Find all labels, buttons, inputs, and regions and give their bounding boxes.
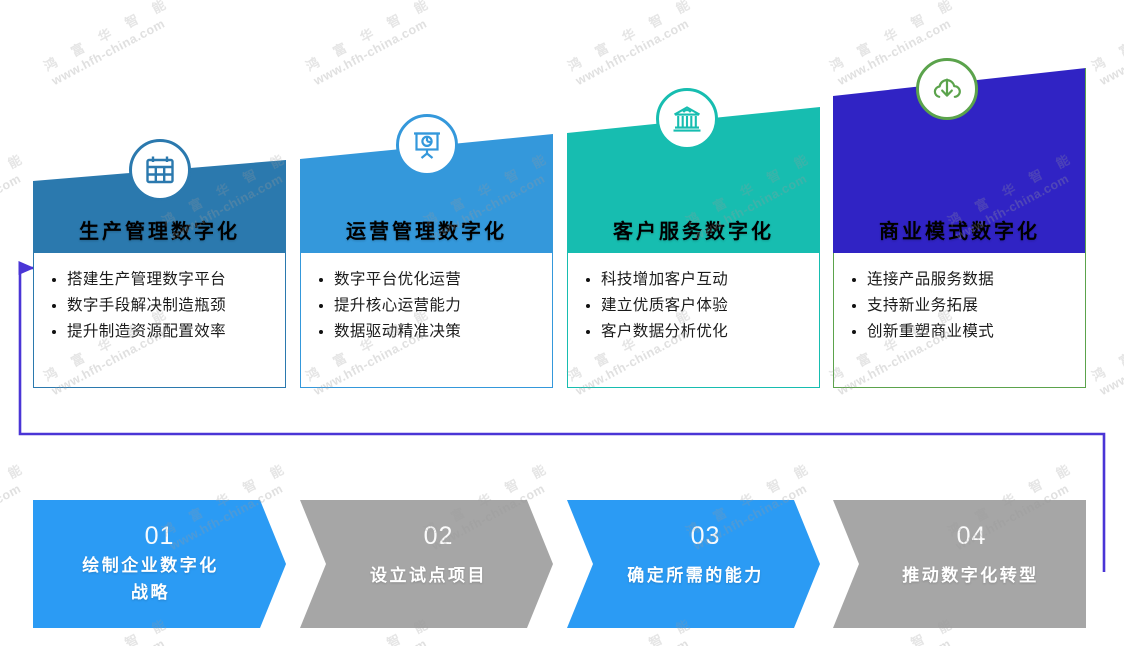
- bank-building-icon: [670, 102, 704, 136]
- step-number: 03: [567, 522, 820, 551]
- bullet-list-business-model: 连接产品服务数据 支持新业务拓展 创新重塑商业模式: [834, 253, 1085, 345]
- bullet-list-production: 搭建生产管理数字平台 数字手段解决制造瓶颈 提升制造资源配置效率: [34, 253, 285, 345]
- list-item: 连接产品服务数据: [852, 267, 1085, 293]
- step-label: 确定所需的能力: [567, 562, 820, 589]
- watermark-text: 鸿 富 华 智 能www.hfh-china.com: [1088, 0, 1124, 88]
- step-01[interactable]: 01 绘制企业数字化战略: [33, 500, 286, 628]
- card-title-operations: 运营管理数字化: [300, 215, 553, 243]
- card-body-operations: 数字平台优化运营 提升核心运营能力 数据驱动精准决策: [300, 253, 553, 388]
- step-number: 02: [300, 522, 553, 551]
- list-item: 科技增加客户互动: [586, 267, 819, 293]
- calendar-icon-badge[interactable]: [129, 139, 191, 201]
- watermark-text: 鸿 富 华 智 能www.hfh-china.com: [40, 0, 182, 88]
- step-number: 01: [33, 522, 286, 551]
- step-02[interactable]: 02 设立试点项目: [300, 500, 553, 628]
- list-item: 支持新业务拓展: [852, 293, 1085, 319]
- cloud-download-icon: [929, 71, 965, 107]
- list-item: 建立优质客户体验: [586, 293, 819, 319]
- bullet-list-customer-service: 科技增加客户互动 建立优质客户体验 客户数据分析优化: [568, 253, 819, 345]
- card-title-production: 生产管理数字化: [33, 215, 286, 243]
- step-label: 推动数字化转型: [833, 562, 1086, 589]
- list-item: 数字平台优化运营: [319, 267, 552, 293]
- bank-building-icon-badge[interactable]: [656, 88, 718, 150]
- step-label: 设立试点项目: [300, 562, 553, 589]
- card-title-customer-service: 客户服务数字化: [567, 215, 820, 243]
- list-item: 搭建生产管理数字平台: [52, 267, 285, 293]
- card-body-production: 搭建生产管理数字平台 数字手段解决制造瓶颈 提升制造资源配置效率: [33, 253, 286, 388]
- step-number: 04: [833, 522, 1086, 551]
- infographic-canvas: 生产管理数字化 搭建生产管理数字平台 数字手段解决制造瓶颈 提升制造资源配置效率: [0, 0, 1124, 646]
- list-item: 创新重塑商业模式: [852, 319, 1085, 345]
- cloud-download-icon-badge[interactable]: [916, 58, 978, 120]
- list-item: 提升制造资源配置效率: [52, 319, 285, 345]
- watermark-text: 鸿 富 华 智 能www.hfh-china.com: [1088, 301, 1124, 398]
- list-item: 数据驱动精准决策: [319, 319, 552, 345]
- list-item: 客户数据分析优化: [586, 319, 819, 345]
- list-item: 数字手段解决制造瓶颈: [52, 293, 285, 319]
- card-body-business-model: 连接产品服务数据 支持新业务拓展 创新重塑商业模式: [833, 253, 1086, 388]
- presentation-chart-icon-badge[interactable]: [396, 114, 458, 176]
- list-item: 提升核心运营能力: [319, 293, 552, 319]
- step-04[interactable]: 04 推动数字化转型: [833, 500, 1086, 628]
- calendar-icon: [143, 153, 177, 187]
- watermark-text: 鸿 富 华 智 能www.hfh-china.com: [302, 0, 444, 88]
- bullet-list-operations: 数字平台优化运营 提升核心运营能力 数据驱动精准决策: [301, 253, 552, 345]
- card-body-customer-service: 科技增加客户互动 建立优质客户体验 客户数据分析优化: [567, 253, 820, 388]
- step-label: 绘制企业数字化战略: [33, 552, 286, 606]
- step-03[interactable]: 03 确定所需的能力: [567, 500, 820, 628]
- watermark-text: 鸿 富 华 智 能www.hfh-china.com: [564, 0, 706, 88]
- presentation-chart-icon: [410, 128, 444, 162]
- card-title-business-model: 商业模式数字化: [833, 215, 1086, 243]
- process-steps-row: 01 绘制企业数字化战略 02 设立试点项目 03 确定所需的能力 04 推动数…: [0, 500, 1124, 628]
